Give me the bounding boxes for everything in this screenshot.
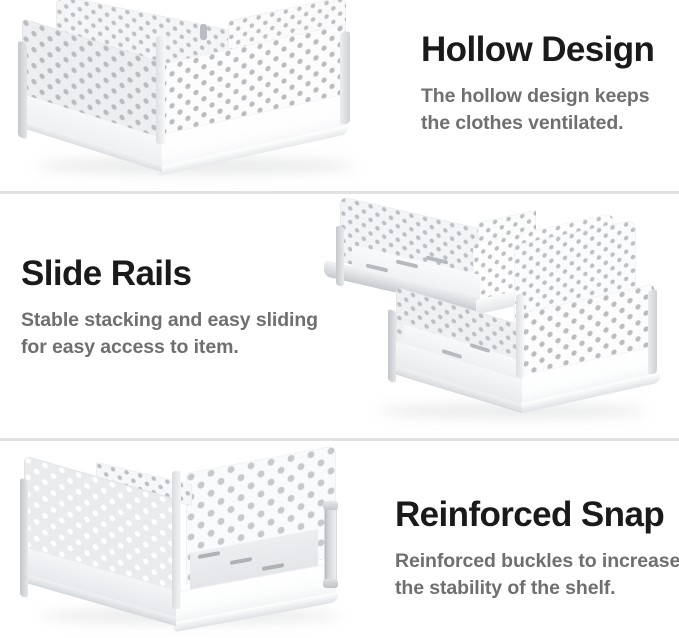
snap-basket-corner-post-left (20, 478, 28, 598)
body-reinforced-snap: Reinforced buckles to increase the stabi… (395, 548, 675, 603)
infographic-page: Hollow Design The hollow design keeps th… (0, 0, 679, 638)
heading-hollow-design: Hollow Design (421, 32, 671, 69)
body-line: Stable stacking and easy sliding (21, 307, 341, 335)
body-line: Reinforced buckles to increase (395, 548, 675, 576)
basket-buckle-icon (200, 24, 207, 40)
text-block-hollow-design: Hollow Design The hollow design keeps th… (421, 32, 671, 138)
body-line: The hollow design keeps (421, 83, 671, 111)
text-block-slide-rails: Slide Rails Stable stacking and easy sli… (21, 256, 341, 362)
heading-reinforced-snap: Reinforced Snap (395, 497, 675, 534)
lower-basket-corner-post-center (516, 294, 524, 378)
section-slide-rails: Slide Rails Stable stacking and easy sli… (0, 194, 679, 440)
upper-basket-corner-post (336, 225, 344, 287)
reinforced-buckle-cap-bottom (323, 579, 338, 588)
text-block-reinforced-snap: Reinforced Snap Reinforced buckles to in… (395, 497, 675, 603)
snap-basket-corner-post-center (172, 471, 181, 609)
reinforced-buckle-snap (325, 505, 336, 587)
basket-corner-post-right (340, 31, 350, 125)
section-reinforced-snap: Reinforced Snap Reinforced buckles to in… (0, 441, 679, 638)
body-slide-rails: Stable stacking and easy sliding for eas… (21, 307, 341, 362)
product-image-reinforced-snap (0, 449, 380, 634)
lower-basket-corner-post-right (648, 289, 657, 375)
product-image-slide-rails (318, 202, 679, 432)
section-hollow-design: Hollow Design The hollow design keeps th… (0, 0, 679, 193)
basket-corner-post-left (18, 41, 27, 140)
body-hollow-design: The hollow design keeps the clothes vent… (421, 83, 671, 138)
body-line: for easy access to item. (21, 334, 341, 362)
reinforced-buckle-cap-top (323, 501, 338, 510)
product-image-hollow-design (0, 0, 400, 193)
body-line: the clothes ventilated. (421, 110, 671, 138)
heading-slide-rails: Slide Rails (21, 256, 341, 293)
body-line: the stability of the shelf. (395, 575, 675, 603)
basket-corner-post-center (156, 36, 165, 144)
lower-basket-corner-post-left (388, 309, 396, 383)
